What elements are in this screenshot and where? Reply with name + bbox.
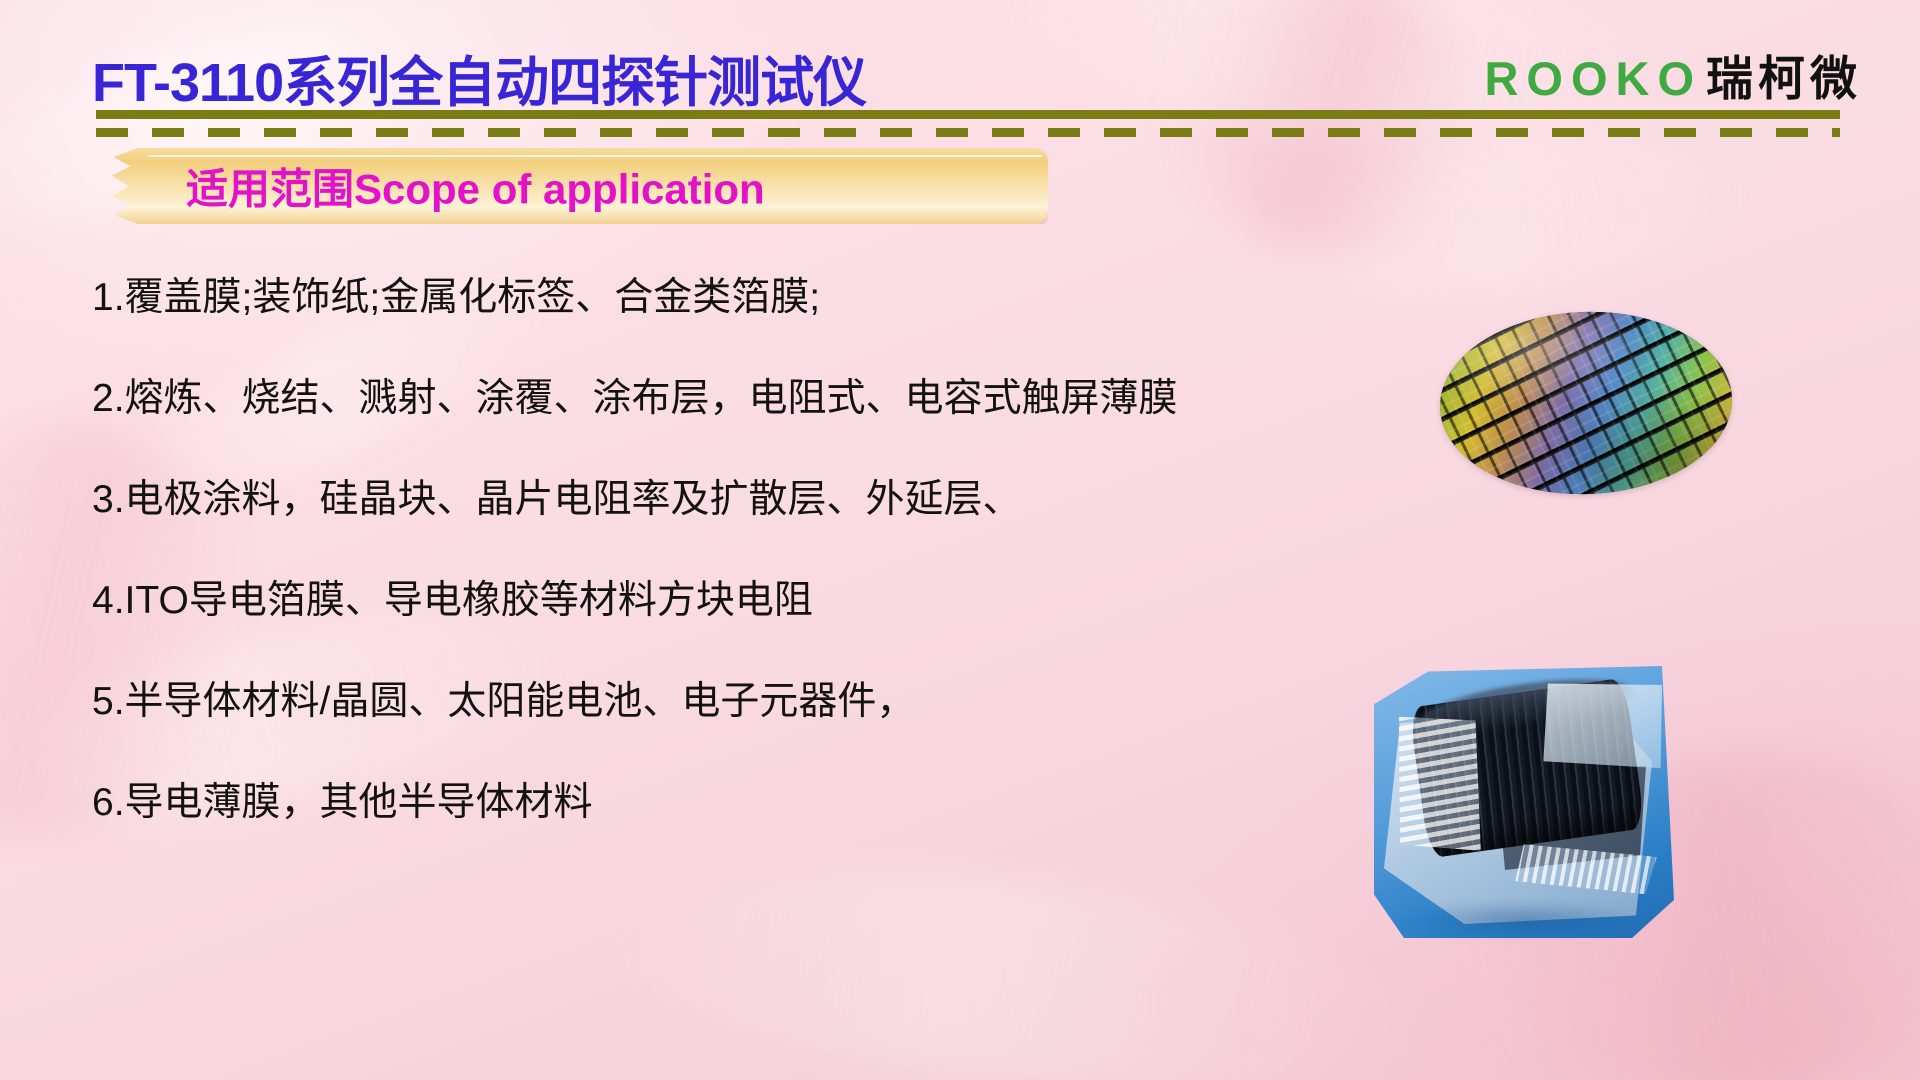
list-item: 6.导电薄膜，其他半导体材料 <box>92 783 1352 822</box>
silicon-wafer-photo <box>1437 307 1735 499</box>
section-banner: 适用范围Scope of application <box>108 148 1048 224</box>
brand-logo: ROOKO 瑞柯微 <box>1484 40 1862 109</box>
background-veil <box>1144 0 1516 290</box>
list-item: 1.覆盖膜;装饰纸;金属化标签、合金类箔膜; <box>92 278 1352 317</box>
list-item: 5.半导体材料/晶圆、太阳能电池、电子元器件， <box>92 682 1352 721</box>
header-divider-dashed <box>96 128 1840 137</box>
brand-logo-cn: 瑞柯微 <box>1706 40 1862 109</box>
brand-logo-en: ROOKO <box>1484 51 1702 106</box>
header-divider-solid <box>96 110 1840 119</box>
list-item: 3.电极涂料，硅晶块、晶片电阻率及扩散层、外延层、 <box>92 480 1352 519</box>
list-item: 4.ITO导电箔膜、导电橡胶等材料方块电阻 <box>92 581 1352 620</box>
list-item: 2.熔炼、烧结、溅射、涂覆、涂布层，电阻式、电容式触屏薄膜 <box>92 379 1352 418</box>
wafer-gloss <box>1437 307 1735 499</box>
section-banner-label: 适用范围Scope of application <box>186 156 765 217</box>
slide-root: FT-3110系列全自动四探针测试仪 ROOKO 瑞柯微 适用范围Scope o… <box>0 0 1920 1080</box>
scope-list: 1.覆盖膜;装饰纸;金属化标签、合金类箔膜; 2.熔炼、烧结、溅射、涂覆、涂布层… <box>92 278 1352 884</box>
wafer-cassette-photo <box>1368 648 1698 948</box>
cassette-shadow <box>1398 902 1648 938</box>
page-title: FT-3110系列全自动四探针测试仪 <box>92 38 866 117</box>
